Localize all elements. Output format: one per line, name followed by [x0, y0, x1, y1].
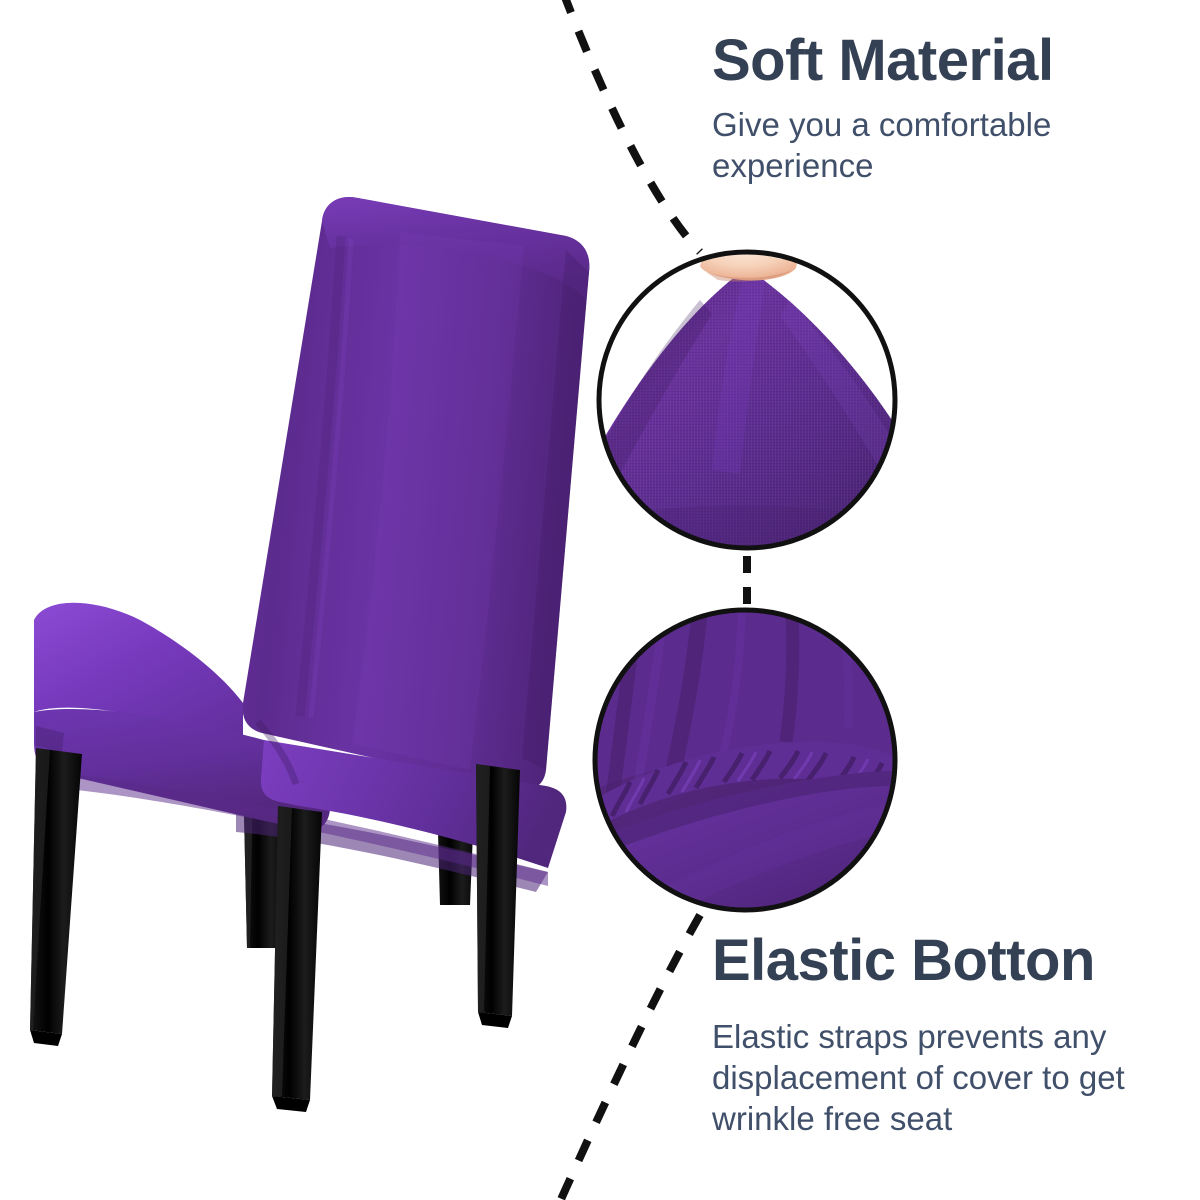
feature-description-elastic-botton: Elastic straps prevents any displacement… — [712, 1017, 1174, 1139]
bottom-detail-circle — [593, 608, 901, 916]
feature-block-elastic-botton: Elastic Botton Elastic straps prevents a… — [712, 930, 1200, 1139]
feature-title-elastic-botton: Elastic Botton — [712, 930, 1200, 991]
chair-with-purple-slipcover — [30, 197, 589, 1112]
infographic-canvas: Soft Material Give you a comfortable exp… — [0, 0, 1200, 1200]
chair-leg-front-right — [272, 806, 322, 1112]
chair-leg-front-far-right — [476, 764, 520, 1028]
top-detail-circle — [586, 239, 912, 562]
chair-leg-front-left — [30, 748, 82, 1046]
feature-title-soft-material: Soft Material — [712, 30, 1200, 91]
dashed-guide-curve — [558, 0, 700, 1200]
chair-back — [243, 197, 590, 791]
feature-description-soft-material: Give you a comfortable experience — [712, 105, 1174, 186]
feature-block-soft-material: Soft Material Give you a comfortable exp… — [712, 30, 1200, 187]
fingertip-icon — [700, 239, 797, 282]
